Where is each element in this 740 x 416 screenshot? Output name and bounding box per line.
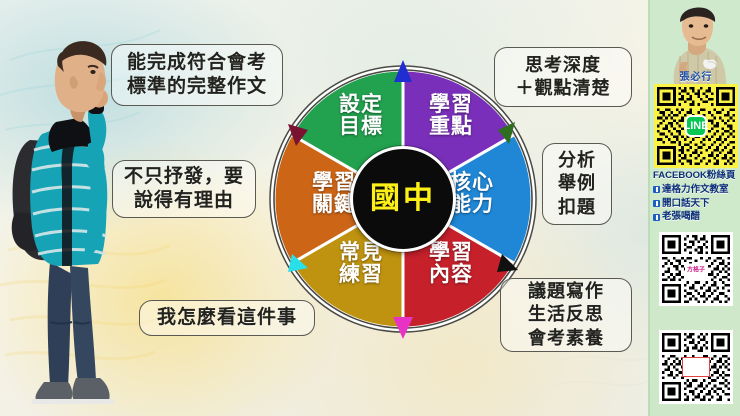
social-link-row[interactable]: 老張喝醋 [653, 210, 740, 224]
third-qr-code[interactable] [659, 330, 733, 404]
vocus-qr-center-label: 方格子 [685, 264, 707, 275]
vocus-qr-code[interactable]: 方格子 [659, 232, 733, 306]
social-link-label: 老張喝醋 [662, 210, 700, 224]
wheel-center-label: 國中 [370, 184, 436, 214]
facebook-icon [653, 214, 660, 221]
social-link-label: 達格力作文教室 [662, 183, 729, 197]
social-link-row[interactable]: 開口話天下 [653, 197, 740, 211]
facebook-heading: FACEBOOK粉絲頁 [653, 170, 740, 183]
social-link-row[interactable]: 達格力作文教室 [653, 183, 740, 197]
line-logo-text: LINE [683, 120, 708, 132]
callout-mid-left: 不只抒發，要 說得有理由 [112, 160, 256, 218]
callout-bottom-left: 我怎麼看這件事 [139, 300, 315, 336]
poster-canvas: 設定 目標 學習 重點 核心 能力 學習 內容 常見 練習 學習 關鍵 國中 能… [0, 0, 740, 416]
line-logo-icon: LINE [685, 115, 707, 137]
line-qr-code[interactable]: LINE [654, 84, 738, 168]
student-photo [4, 22, 126, 414]
callout-bottom-right: 議題寫作 生活反思 會考素養 [500, 278, 632, 352]
callout-mid-right: 分析 舉例 扣題 [542, 143, 612, 225]
teacher-name-label: 張必行 [650, 68, 740, 83]
callout-top-right: 思考深度 ＋觀點清楚 [494, 47, 632, 107]
social-links-block: FACEBOOK粉絲頁 達格力作文教室 開口話天下 老張喝醋 [653, 170, 740, 224]
contact-sidebar: 張必行 [648, 0, 740, 416]
facebook-icon [653, 200, 660, 207]
callout-top-left: 能完成符合會考 標準的完整作文 [111, 44, 283, 106]
wheel-center-hub: 國中 [350, 146, 456, 252]
third-qr-center-logo [682, 357, 710, 377]
social-link-label: 開口話天下 [662, 197, 710, 211]
facebook-icon [653, 186, 660, 193]
